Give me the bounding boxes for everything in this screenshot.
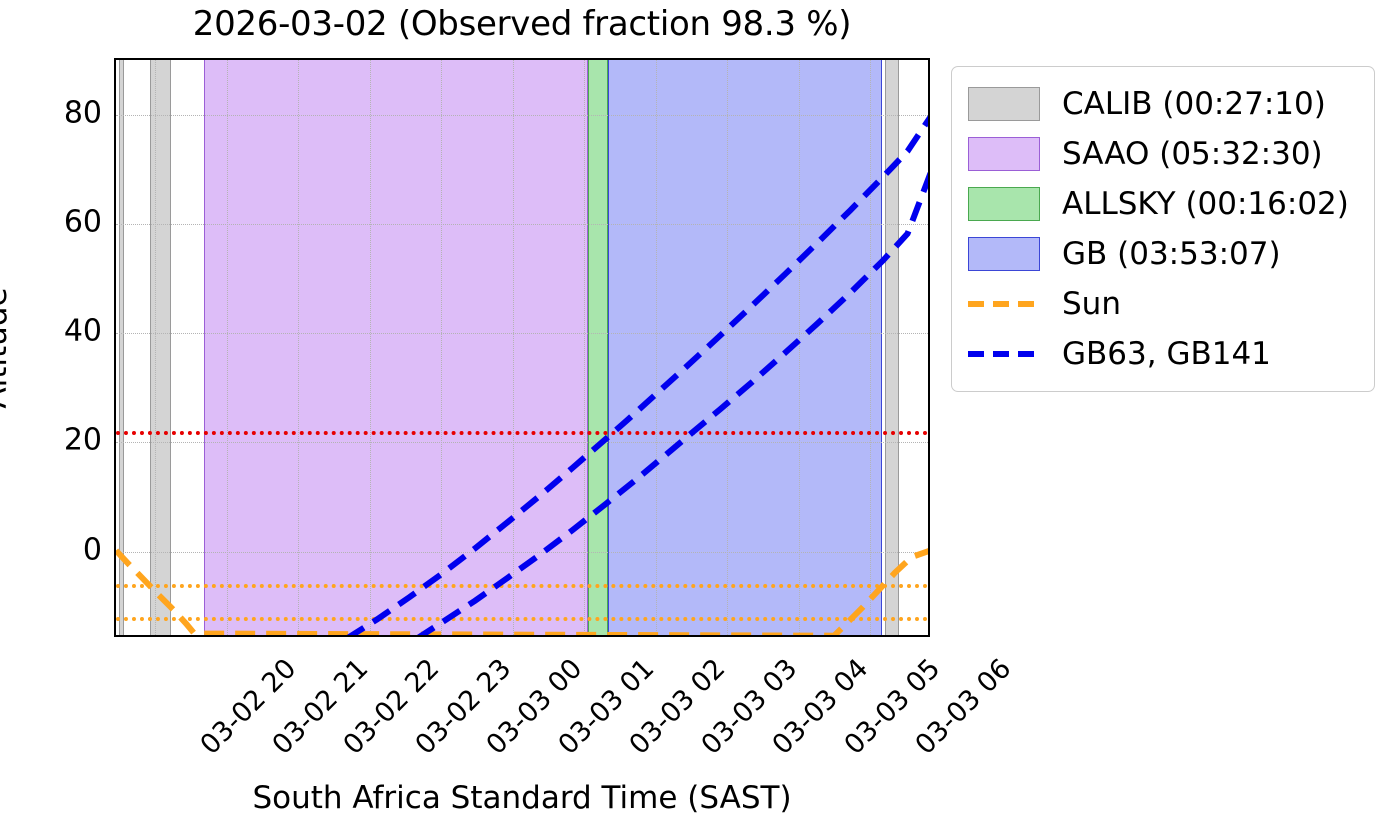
series-gb63 xyxy=(347,115,928,635)
plot-area xyxy=(114,58,930,637)
legend-item-allsky[interactable]: ALLSKY (00:16:02) xyxy=(968,179,1360,229)
legend-swatch-calib xyxy=(968,87,1040,121)
legend-item-targets[interactable]: GB63, GB141 xyxy=(968,329,1360,379)
chart-title: 2026-03-02 (Observed fraction 98.3 %) xyxy=(114,4,930,44)
y-tick-label: 80 xyxy=(64,95,102,130)
y-tick xyxy=(114,442,116,444)
legend-item-calib[interactable]: CALIB (00:27:10) xyxy=(968,79,1360,129)
legend-dash-sun xyxy=(968,287,1040,321)
legend-item-saao[interactable]: SAAO (05:32:30) xyxy=(968,129,1360,179)
y-tick-label: 20 xyxy=(64,423,102,458)
legend-label-targets: GB63, GB141 xyxy=(1062,339,1271,370)
y-tick-label: 0 xyxy=(83,532,102,567)
plot-clip xyxy=(116,60,928,635)
legend-label-calib: CALIB (00:27:10) xyxy=(1062,89,1326,120)
y-tick xyxy=(114,115,116,117)
series-layer xyxy=(116,60,928,635)
legend-label-gb: GB (03:53:07) xyxy=(1062,239,1281,270)
legend-dash-targets xyxy=(968,337,1040,371)
x-axis-title: South Africa Standard Time (SAST) xyxy=(114,780,930,816)
legend-swatch-saao xyxy=(968,137,1040,171)
y-axis-title: Altitude xyxy=(0,287,14,408)
legend-label-sun: Sun xyxy=(1062,289,1121,320)
legend-label-saao: SAAO (05:32:30) xyxy=(1062,139,1323,170)
chart-legend: CALIB (00:27:10)SAAO (05:32:30)ALLSKY (0… xyxy=(951,66,1375,392)
y-tick xyxy=(114,552,116,554)
y-tick-label: 60 xyxy=(64,204,102,239)
y-tick-label: 40 xyxy=(64,314,102,349)
legend-label-allsky: ALLSKY (00:16:02) xyxy=(1062,189,1349,220)
legend-item-sun[interactable]: Sun xyxy=(968,279,1360,329)
legend-swatch-gb xyxy=(968,237,1040,271)
y-tick xyxy=(114,224,116,226)
legend-swatch-allsky xyxy=(968,187,1040,221)
y-tick xyxy=(114,333,116,335)
series-sun xyxy=(116,550,928,635)
altitude-chart-figure: 2026-03-02 (Observed fraction 98.3 %) Al… xyxy=(0,0,1395,836)
legend-item-gb[interactable]: GB (03:53:07) xyxy=(968,229,1360,279)
series-gb141 xyxy=(417,169,928,635)
